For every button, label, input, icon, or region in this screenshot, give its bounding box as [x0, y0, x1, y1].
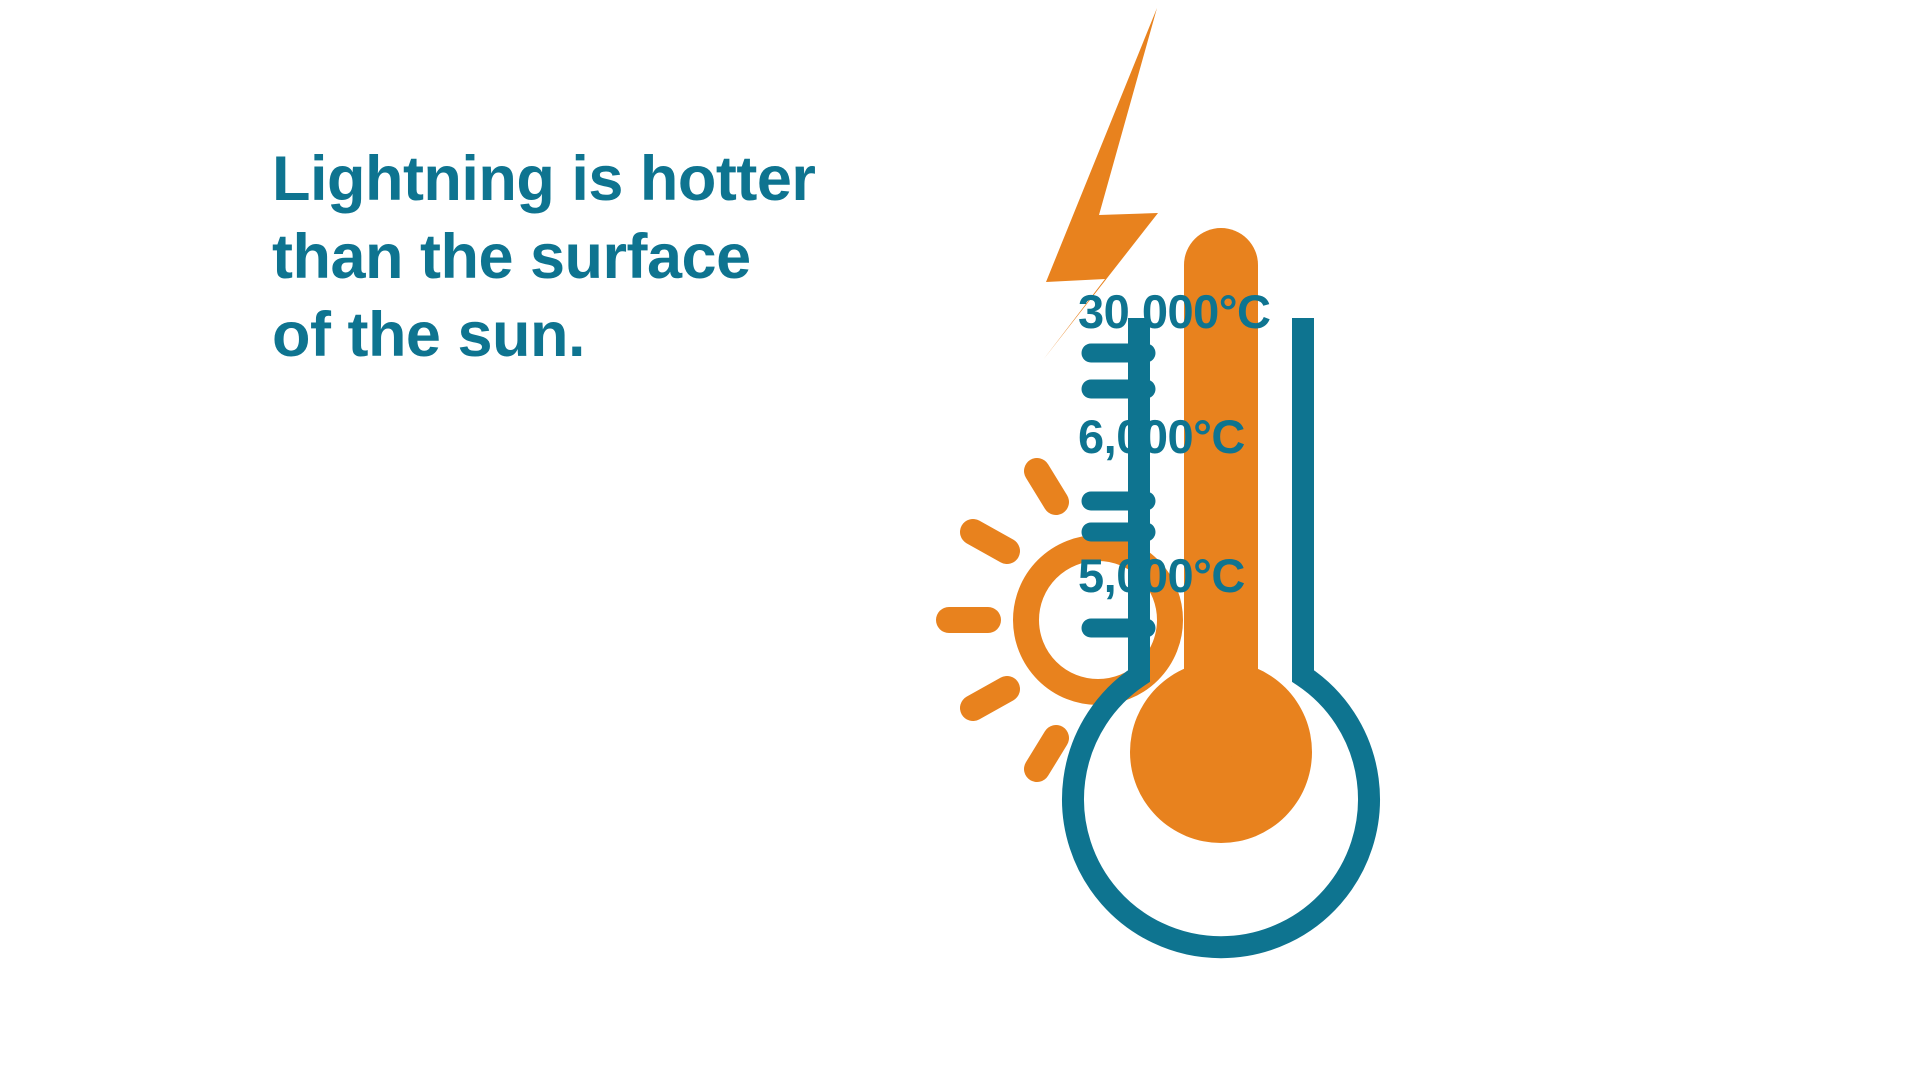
infographic-canvas: Lightning is hotter than the surface of … — [0, 0, 1920, 1080]
temperature-label-30000: 30,000°C — [1078, 288, 1271, 335]
temperature-label-5000: 5,000°C — [1078, 552, 1245, 599]
thermometer-illustration — [760, 0, 1920, 1080]
temperature-label-6000: 6,000°C — [1078, 413, 1245, 460]
thermometer-graphic — [760, 0, 1920, 1080]
